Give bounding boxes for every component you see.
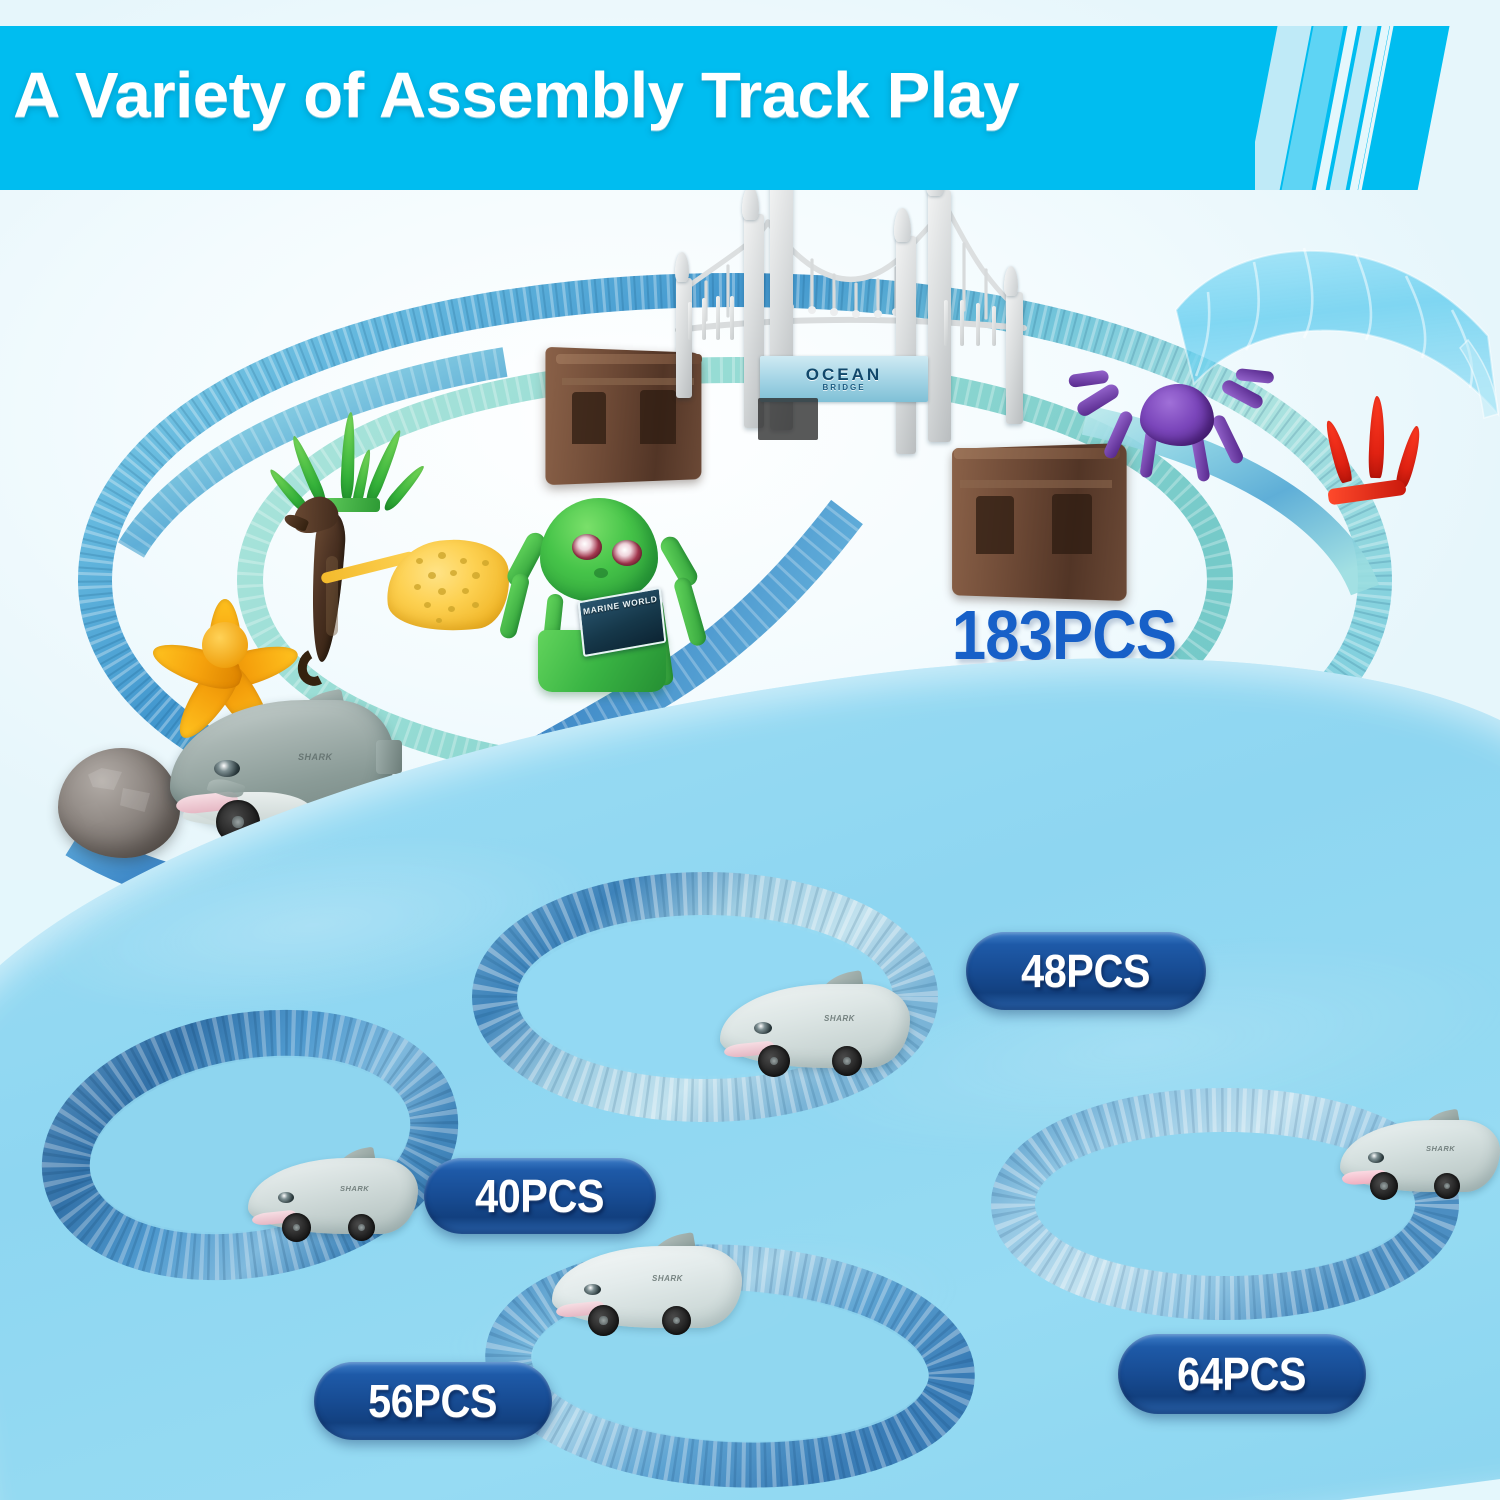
header-banner: A Variety of Assembly Track Play bbox=[0, 0, 1500, 210]
ocean-bridge-sign: OCEAN BRIDGE bbox=[760, 356, 928, 402]
bridge-tower bbox=[896, 236, 916, 454]
badge-48pcs-label: 48PCS bbox=[1022, 944, 1151, 998]
product-feature-image: OCEAN BRIDGE bbox=[0, 0, 1500, 1500]
badge-56pcs: 56PCS bbox=[314, 1362, 552, 1440]
bridge-sign-line1: OCEAN bbox=[806, 366, 882, 383]
badge-40pcs-label: 40PCS bbox=[476, 1169, 605, 1223]
shark-race-car: SHARK bbox=[248, 1158, 418, 1234]
shark-car-decal: SHARK bbox=[824, 1014, 855, 1023]
track-loop-56pcs: SHARK bbox=[480, 1238, 980, 1500]
badge-64pcs-label: 64PCS bbox=[1178, 1347, 1307, 1401]
shark-car-decal: SHARK bbox=[1426, 1144, 1455, 1153]
seahorse-accessory bbox=[286, 470, 386, 710]
starfish-accessory bbox=[160, 580, 290, 710]
track-loop-64pcs: SHARK bbox=[990, 1082, 1460, 1332]
shark-car-decal: SHARK bbox=[340, 1184, 369, 1193]
shark-race-car: SHARK bbox=[720, 984, 910, 1068]
badge-64pcs: 64PCS bbox=[1118, 1334, 1366, 1414]
stingray-accessory bbox=[386, 540, 510, 632]
badge-40pcs: 40PCS bbox=[424, 1158, 656, 1234]
track-loop-40pcs: SHARK bbox=[40, 1000, 460, 1290]
transparent-tunnel-accessory bbox=[1168, 218, 1500, 488]
rock-accessory bbox=[58, 748, 180, 858]
bridge-railing bbox=[940, 300, 1010, 346]
shark-car-decal: SHARK bbox=[652, 1274, 683, 1283]
bridge-sign-line2: BRIDGE bbox=[822, 384, 865, 392]
shark-car-decal: SHARK bbox=[298, 752, 333, 762]
bridge-railing bbox=[684, 296, 748, 340]
track-loop-48pcs: SHARK bbox=[470, 862, 940, 1132]
badge-56pcs-label: 56PCS bbox=[369, 1374, 498, 1428]
banner-title: A Variety of Assembly Track Play bbox=[13, 58, 1319, 132]
octopus-gate-accessory: MARINE WORLD bbox=[506, 498, 706, 718]
shark-race-car: SHARK bbox=[1340, 1120, 1500, 1192]
badge-48pcs: 48PCS bbox=[966, 932, 1206, 1010]
shark-race-car: SHARK bbox=[552, 1246, 742, 1328]
